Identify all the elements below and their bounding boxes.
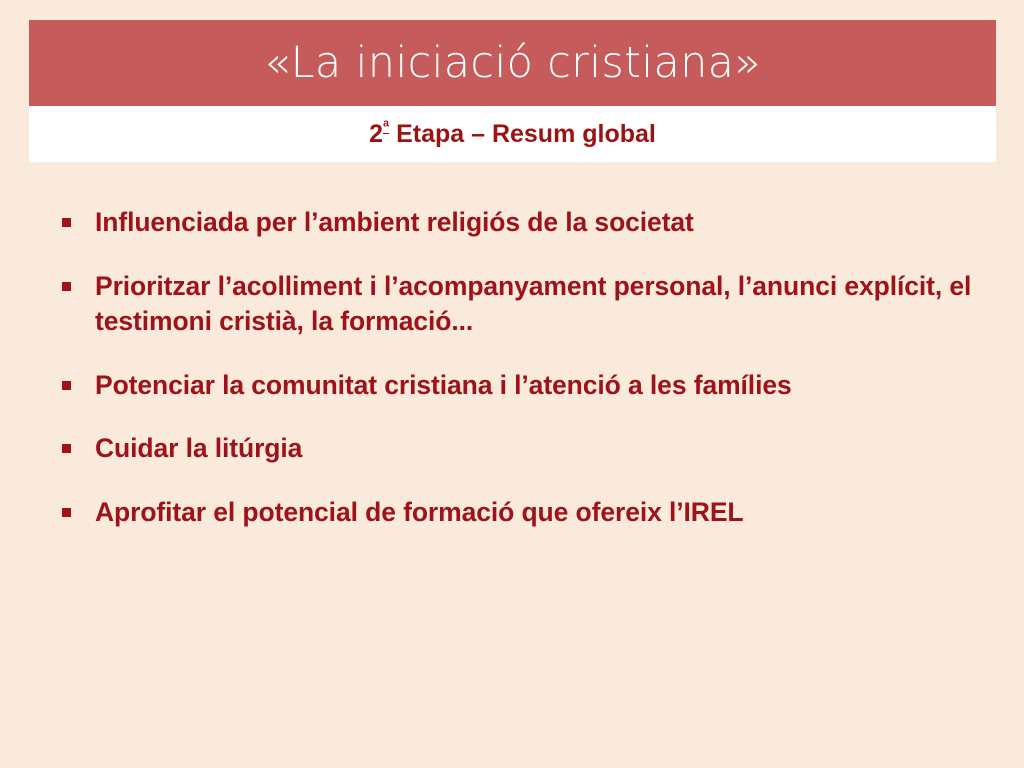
list-item-label: Aprofitar el potencial de formació que o… xyxy=(95,495,978,531)
square-bullet-icon xyxy=(62,282,71,291)
subtitle-rest: Etapa – Resum global xyxy=(389,120,656,148)
list-item: Cuidar la litúrgia xyxy=(48,431,978,467)
list-item: Prioritzar l’acolliment i l’acompanyamen… xyxy=(48,269,978,340)
list-item-label: Influenciada per l’ambient religiós de l… xyxy=(95,205,978,241)
subtitle-number: 2 xyxy=(369,120,383,148)
square-bullet-icon xyxy=(62,508,71,517)
square-bullet-icon xyxy=(62,444,71,453)
bullet-list: Influenciada per l’ambient religiós de l… xyxy=(48,205,978,530)
square-bullet-icon xyxy=(62,218,71,227)
title-banner: «La iniciació cristiana» xyxy=(29,20,996,106)
list-item-label: Cuidar la litúrgia xyxy=(95,431,978,467)
list-item-label: Prioritzar l’acolliment i l’acompanyamen… xyxy=(95,269,978,340)
presentation-slide: «La iniciació cristiana» 2ª Etapa – Resu… xyxy=(0,0,1024,768)
list-item-label: Potenciar la comunitat cristiana i l’ate… xyxy=(95,368,978,404)
square-bullet-icon xyxy=(62,381,71,390)
subtitle-strip: 2ª Etapa – Resum global xyxy=(29,106,996,162)
list-item: Potenciar la comunitat cristiana i l’ate… xyxy=(48,368,978,404)
page-title: «La iniciació cristiana» xyxy=(264,42,761,85)
slide-subtitle: 2ª Etapa – Resum global xyxy=(369,122,656,147)
list-item: Aprofitar el potencial de formació que o… xyxy=(48,495,978,531)
list-item: Influenciada per l’ambient religiós de l… xyxy=(48,205,978,241)
